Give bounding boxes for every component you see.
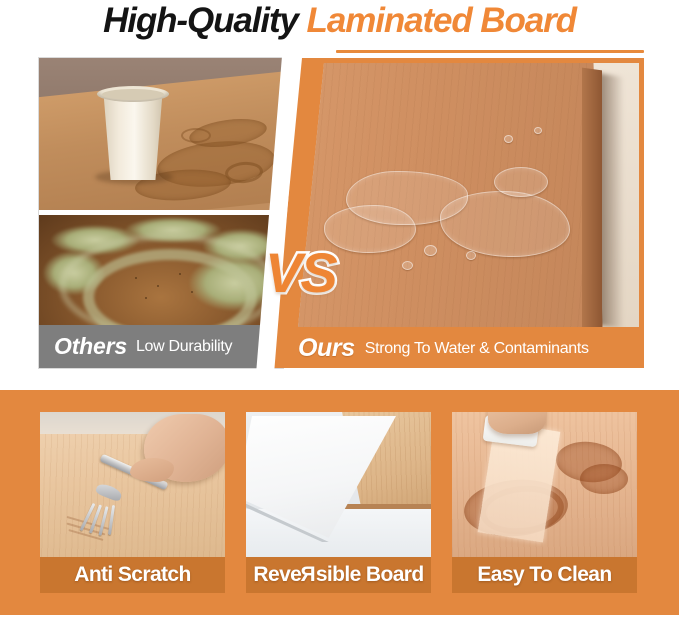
- others-image-top: [39, 58, 283, 210]
- board-edge: [582, 68, 602, 327]
- others-label-bar: Others Low Durability: [39, 325, 283, 368]
- paper-cup-inner: [102, 89, 164, 100]
- feature-label-text-post: sible Board: [316, 563, 424, 586]
- water-droplet: [534, 127, 542, 134]
- paper-cup: [100, 91, 166, 180]
- features-band: Anti Scratch ReveRsible Board Easy To Cl…: [0, 390, 679, 615]
- reversed-r-glyph: R: [301, 563, 316, 587]
- water-droplet: [424, 245, 437, 256]
- comparison-section: Others Low Durability Ours Strong To Wat…: [0, 56, 679, 374]
- water-droplet: [402, 261, 413, 270]
- feature-label-text: ReveRsible Board: [253, 563, 423, 587]
- feature-label-anti-scratch: Anti Scratch: [40, 557, 225, 593]
- page-title-part-dark: High-Quality: [103, 1, 306, 40]
- hand: [488, 412, 546, 434]
- feature-label-text: Easy To Clean: [477, 563, 611, 587]
- mold-speck: [135, 277, 137, 279]
- others-image-bottom: [39, 215, 283, 325]
- mold-speck: [191, 291, 193, 293]
- ours-label-bar: Ours Strong To Water & Contaminants: [280, 327, 644, 370]
- feature-label-text: Anti Scratch: [74, 563, 191, 587]
- mold-speck: [145, 297, 147, 299]
- others-label-tagline: Low Durability: [136, 338, 232, 356]
- stain-ring: [181, 128, 211, 143]
- water-bead: [494, 167, 548, 197]
- ours-panel: Ours Strong To Water & Contaminants: [272, 58, 644, 368]
- feature-card-anti-scratch: Anti Scratch: [40, 412, 225, 593]
- water-droplet: [504, 135, 513, 143]
- feature-card-reversible-board: ReveRsible Board: [246, 412, 431, 593]
- stain-patch: [580, 464, 628, 494]
- feature-card-easy-to-clean: Easy To Clean: [452, 412, 637, 593]
- mold-speck: [179, 273, 181, 275]
- vs-badge: VS: [265, 240, 336, 305]
- water-bead: [324, 205, 416, 253]
- feature-label-text-pre: Reve: [253, 563, 301, 586]
- ours-image: [298, 63, 639, 327]
- title-bar: High-Quality Laminated Board: [0, 0, 679, 56]
- ours-label-tagline: Strong To Water & Contaminants: [365, 340, 589, 358]
- finger: [130, 458, 174, 482]
- ours-label-name: Ours: [298, 334, 355, 363]
- feature-label-easy-to-clean: Easy To Clean: [452, 557, 637, 593]
- others-panel: Others Low Durability: [39, 58, 283, 368]
- title-underline: [336, 50, 644, 53]
- page-title-part-orange: Laminated Board: [307, 1, 576, 40]
- mold-speck: [157, 285, 159, 287]
- feature-label-reversible-board: ReveRsible Board: [246, 557, 431, 593]
- page-title: High-Quality Laminated Board: [0, 1, 679, 41]
- others-label-name: Others: [54, 333, 127, 360]
- water-droplet: [466, 251, 476, 260]
